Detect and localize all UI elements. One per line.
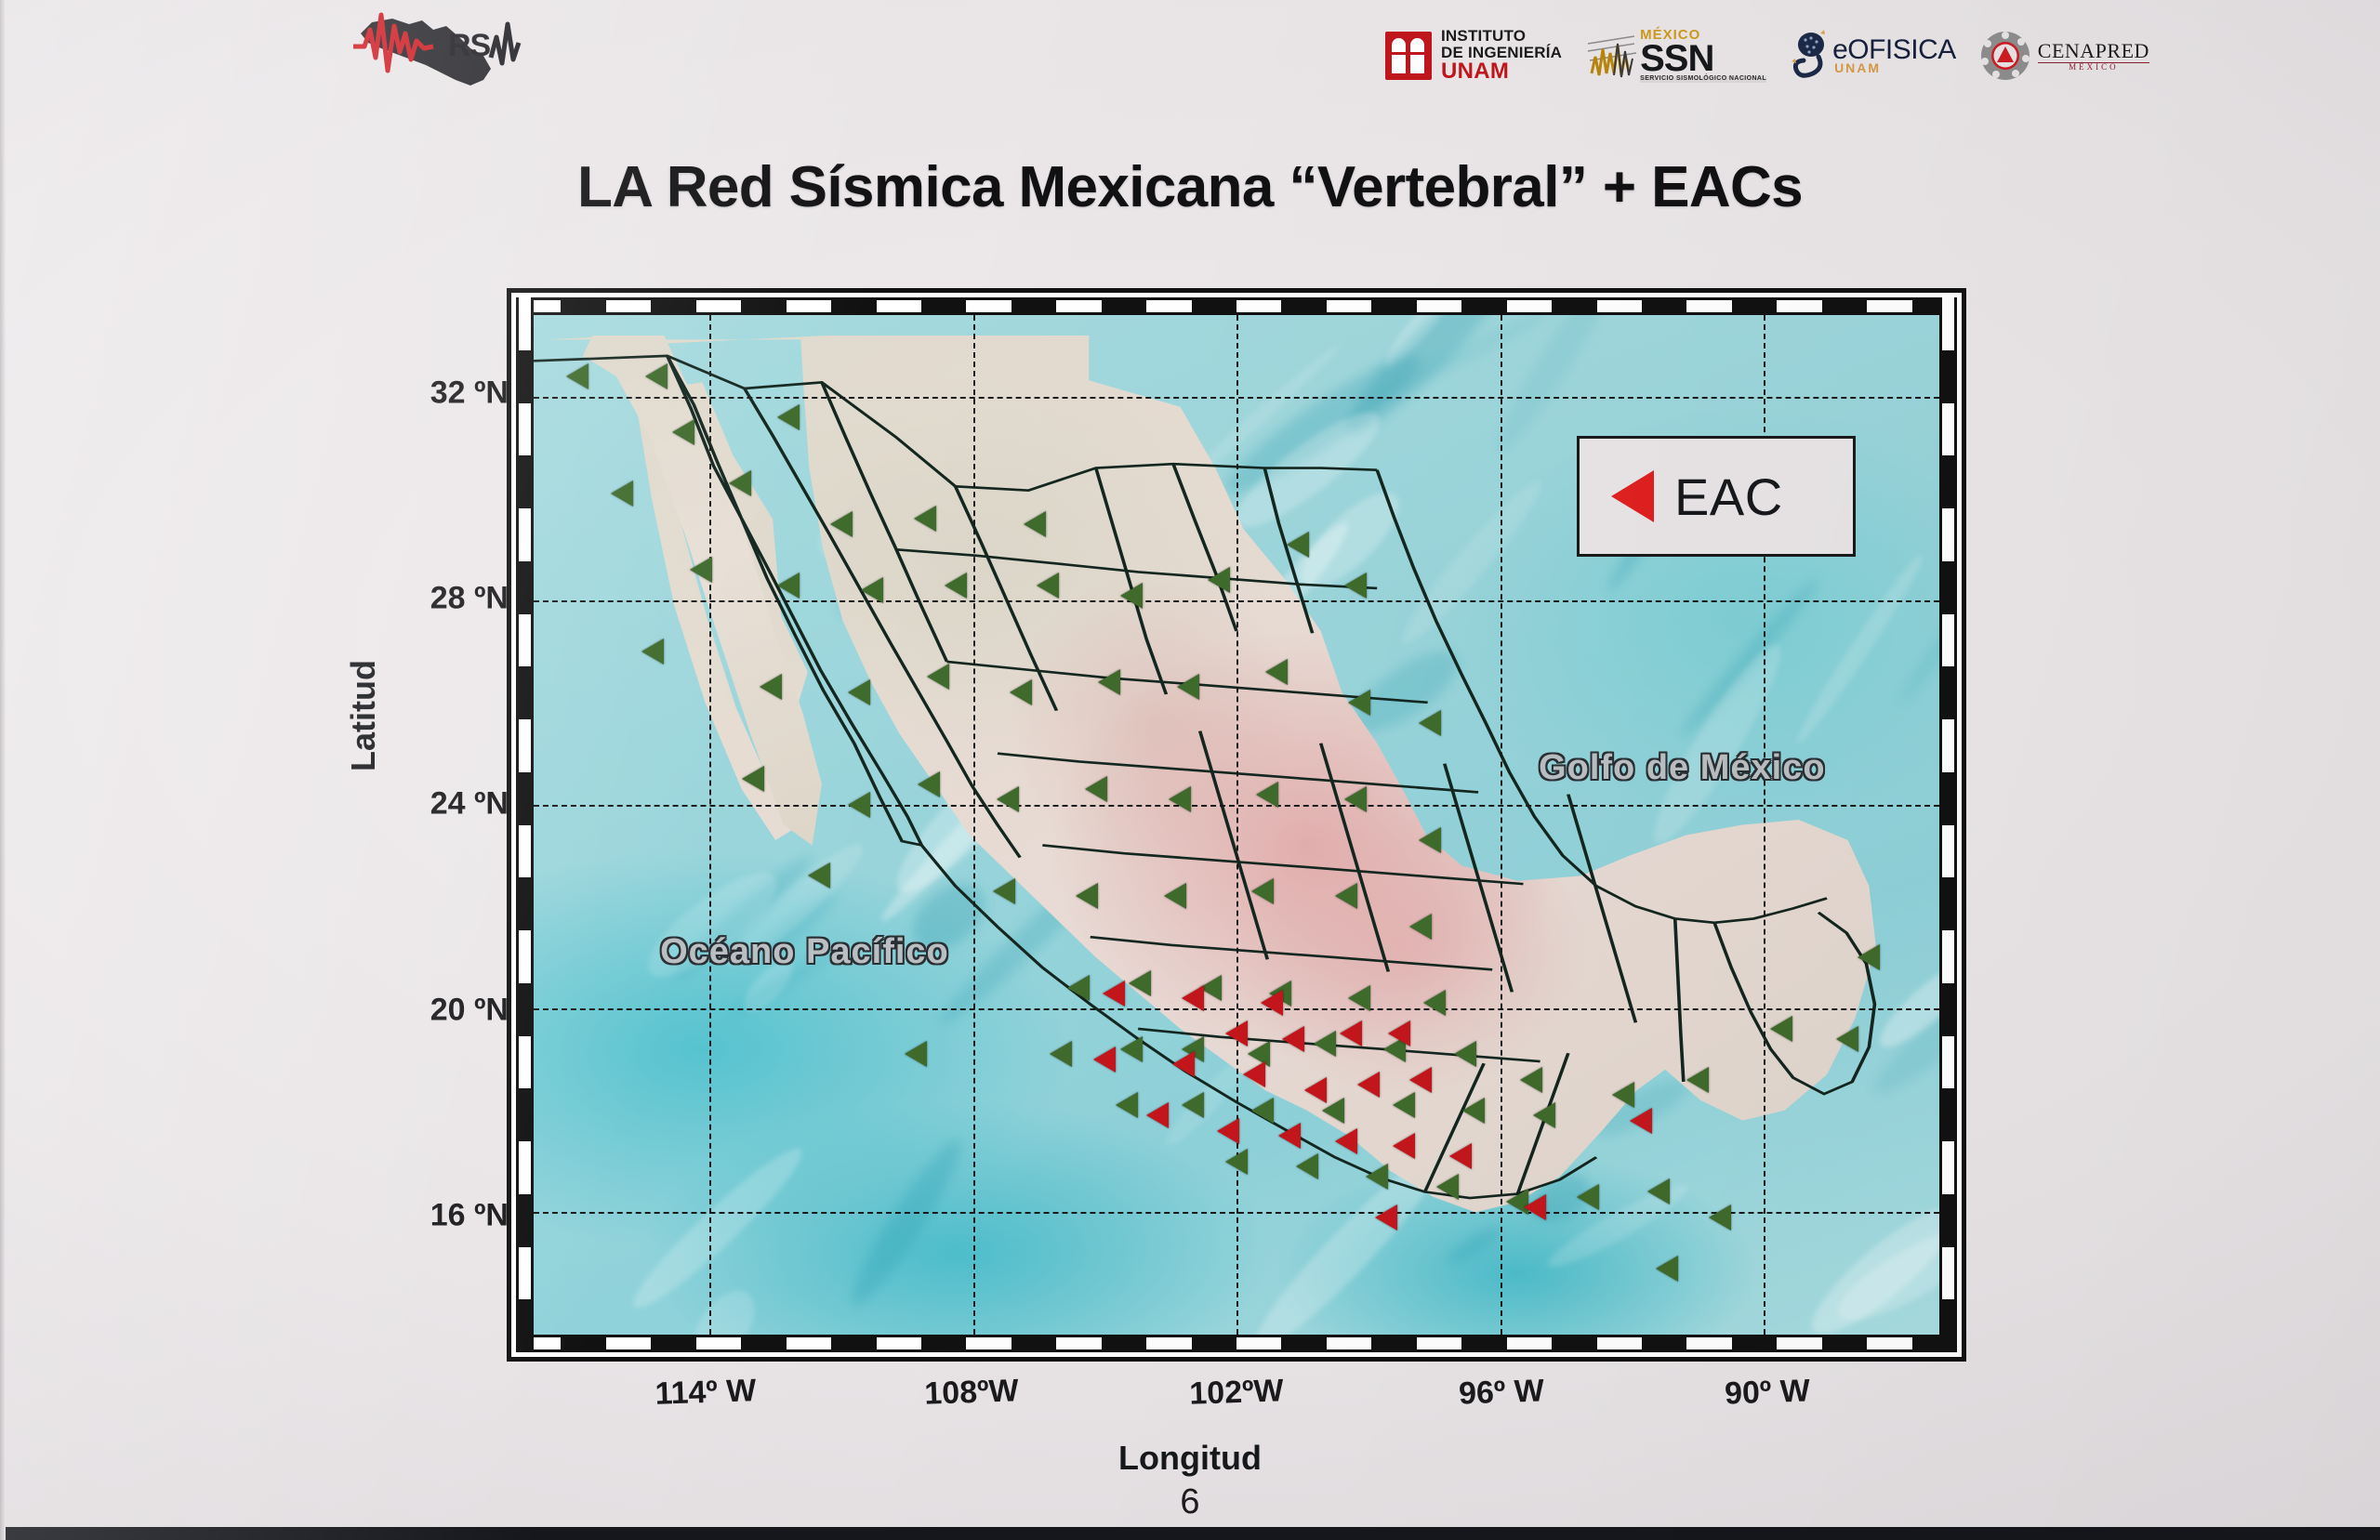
station-marker[interactable] xyxy=(1836,1026,1858,1052)
station-marker[interactable] xyxy=(1366,1164,1388,1190)
station-marker[interactable] xyxy=(945,573,967,599)
photo-bottom-edge xyxy=(0,1527,2380,1540)
station-marker-eac[interactable] xyxy=(1282,1026,1304,1052)
station-marker-eac[interactable] xyxy=(1340,1020,1362,1046)
frame-tick-segment xyxy=(1942,1247,1954,1300)
frame-tick-segment xyxy=(1942,930,1954,983)
station-marker[interactable] xyxy=(1177,674,1199,700)
rsm-logo: RS xyxy=(344,6,549,91)
station-marker[interactable] xyxy=(1164,883,1186,909)
station-marker[interactable] xyxy=(1436,1174,1459,1200)
frame-tick-segment xyxy=(966,300,1011,312)
svg-text:RS: RS xyxy=(448,28,491,63)
longitude-tick-label: 90º W xyxy=(1724,1373,1810,1412)
station-marker-eac[interactable] xyxy=(1103,981,1125,1007)
page-title: LA Red Sísmica Mexicana “Vertebral” + EA… xyxy=(0,154,2380,220)
geofisica-globe-icon xyxy=(1791,29,1830,83)
station-marker-eac[interactable] xyxy=(1304,1077,1327,1103)
frame-tick-segment xyxy=(519,1036,531,1089)
frame-tick-segment xyxy=(787,1337,831,1349)
partner-logos: INSTITUTO DE INGENIERÍA UNAM MÉXICO SSN xyxy=(1385,17,2149,95)
station-marker[interactable] xyxy=(777,404,800,430)
station-marker[interactable] xyxy=(905,1041,927,1067)
frame-tick-segment xyxy=(877,300,921,312)
station-marker[interactable] xyxy=(1120,1036,1143,1062)
grid-line-longitude xyxy=(1501,315,1502,1335)
station-marker-eac[interactable] xyxy=(1217,1118,1239,1144)
station-marker[interactable] xyxy=(808,862,830,888)
station-marker-eac[interactable] xyxy=(1388,1020,1410,1046)
geofisica-main: eOFISICA xyxy=(1832,37,1956,62)
legend-label-eac: EAC xyxy=(1674,467,1783,527)
frame-tick-segment xyxy=(1327,1337,1371,1349)
station-marker[interactable] xyxy=(1225,1149,1248,1175)
latitude-tick-label: 16 ºN xyxy=(430,1198,509,1234)
unam-square-icon xyxy=(1385,32,1432,80)
ii-line1: INSTITUTO xyxy=(1441,28,1562,45)
frame-tick-segment xyxy=(1236,1337,1281,1349)
frame-tick-segment xyxy=(1777,1337,1821,1349)
station-marker[interactable] xyxy=(918,771,940,797)
station-marker[interactable] xyxy=(1348,690,1370,716)
station-marker[interactable] xyxy=(927,664,949,690)
geofisica-unam-logo: eOFISICA UNAM xyxy=(1791,29,1956,83)
frame-tick-segment xyxy=(1942,1141,1954,1194)
frame-tick-segment xyxy=(1686,300,1731,312)
station-marker[interactable] xyxy=(566,363,588,389)
station-marker[interactable] xyxy=(611,480,633,507)
frame-tick-segment xyxy=(1597,300,1642,312)
station-marker[interactable] xyxy=(993,878,1015,904)
frame-tick-segment xyxy=(1507,1337,1552,1349)
station-marker[interactable] xyxy=(1116,1092,1138,1118)
frame-tick-segment xyxy=(877,1337,921,1349)
grid-line-longitude xyxy=(973,315,975,1335)
station-marker[interactable] xyxy=(1770,1016,1792,1042)
station-marker-eac[interactable] xyxy=(1225,1020,1248,1046)
frame-tick-segment xyxy=(1056,300,1101,312)
station-marker[interactable] xyxy=(760,674,782,700)
frame-tick-segment xyxy=(1942,508,1954,561)
longitude-tick-label: 114º W xyxy=(654,1373,757,1413)
legend-triangle-icon xyxy=(1611,470,1654,522)
frame-tick-segment xyxy=(606,300,651,312)
station-marker[interactable] xyxy=(1296,1153,1318,1179)
station-marker[interactable] xyxy=(777,573,800,599)
station-marker[interactable] xyxy=(1454,1041,1476,1067)
station-marker[interactable] xyxy=(1348,985,1370,1011)
station-marker[interactable] xyxy=(1520,1067,1542,1093)
station-marker[interactable] xyxy=(1577,1184,1599,1210)
frame-tick-segment xyxy=(787,300,831,312)
station-marker[interactable] xyxy=(848,792,870,818)
station-marker-eac[interactable] xyxy=(1172,1051,1195,1077)
ii-line3: UNAM xyxy=(1441,60,1562,84)
frame-tick-segment xyxy=(1867,300,1911,312)
ssn-logo: MÉXICO SSN SERVICIO SISMOLÓGICO NACIONAL xyxy=(1586,25,1766,86)
station-marker-eac[interactable] xyxy=(1335,1128,1357,1154)
frame-tick-segment xyxy=(1942,719,1954,772)
frame-tick-segment xyxy=(1146,1337,1191,1349)
cenapred-main: CENAPRED xyxy=(2038,41,2149,61)
station-marker[interactable] xyxy=(1393,1092,1415,1118)
station-marker[interactable] xyxy=(1858,944,1880,970)
slide-canvas: RS INSTITUTO DE INGENIERÍA UNAM xyxy=(0,0,2380,1540)
station-marker[interactable] xyxy=(1287,532,1309,558)
frame-tick-segment xyxy=(519,614,531,667)
frame-tick-segment xyxy=(519,403,531,456)
station-marker[interactable] xyxy=(1419,710,1441,736)
frame-tick-segment xyxy=(1597,1337,1642,1349)
station-marker[interactable] xyxy=(1182,1092,1204,1118)
station-marker-eac[interactable] xyxy=(1093,1046,1116,1073)
latitude-tick-label: 32 ºN xyxy=(430,375,509,411)
station-marker[interactable] xyxy=(1409,914,1432,940)
station-marker[interactable] xyxy=(1335,883,1357,909)
station-marker[interactable] xyxy=(1251,878,1274,904)
station-marker-eac[interactable] xyxy=(1182,985,1204,1011)
ssn-acronym: SSN xyxy=(1640,42,1766,76)
frame-tick-segment xyxy=(1942,1036,1954,1089)
station-marker[interactable] xyxy=(1686,1067,1709,1093)
frame-band-top xyxy=(516,297,1957,315)
station-marker[interactable] xyxy=(1067,975,1090,1001)
station-marker-eac[interactable] xyxy=(1243,1061,1265,1087)
station-marker[interactable] xyxy=(1709,1204,1731,1231)
frame-tick-segment xyxy=(1056,1337,1101,1349)
station-marker[interactable] xyxy=(1129,970,1151,996)
frame-tick-segment xyxy=(1236,300,1281,312)
frame-tick-segment xyxy=(519,719,531,772)
frame-tick-segment xyxy=(519,1247,531,1300)
station-marker[interactable] xyxy=(742,766,764,792)
station-marker[interactable] xyxy=(1265,659,1288,685)
label-oceano-pacifico: Océano Pacífico xyxy=(660,932,949,972)
grid-line-longitude xyxy=(1236,315,1238,1335)
station-marker[interactable] xyxy=(641,638,664,665)
frame-tick-segment xyxy=(1507,300,1552,312)
frame-tick-segment xyxy=(519,297,531,350)
frame-tick-segment xyxy=(1327,300,1371,312)
station-marker[interactable] xyxy=(645,363,668,389)
frame-tick-segment xyxy=(1777,300,1821,312)
station-marker[interactable] xyxy=(830,511,853,537)
station-marker-eac[interactable] xyxy=(1375,1204,1397,1231)
station-marker[interactable] xyxy=(1612,1082,1634,1108)
frame-tick-segment xyxy=(1942,297,1954,350)
station-marker-eac[interactable] xyxy=(1146,1102,1169,1128)
photo-left-edge xyxy=(0,0,6,1540)
frame-tick-segment xyxy=(519,930,531,983)
frame-tick-segment xyxy=(519,1141,531,1194)
frame-tick-segment xyxy=(1417,300,1461,312)
frame-band-left xyxy=(516,297,534,1352)
station-marker[interactable] xyxy=(1076,883,1098,909)
cenapred-logo: CENAPRED MÉXICO xyxy=(1980,31,2149,81)
frame-tick-segment xyxy=(696,300,741,312)
station-marker[interactable] xyxy=(1098,669,1120,695)
ssn-subtitle: SERVICIO SISMOLÓGICO NACIONAL xyxy=(1640,76,1766,82)
frame-tick-segment xyxy=(1867,1337,1911,1349)
station-marker[interactable] xyxy=(1251,1098,1274,1124)
cenapred-seal-icon xyxy=(1980,31,2030,81)
ssn-wave-icon xyxy=(1586,33,1640,79)
station-marker[interactable] xyxy=(1010,679,1032,705)
axis-title-longitud: Longitud xyxy=(0,1439,2380,1478)
frame-tick-segment xyxy=(696,1337,741,1349)
frame-tick-segment xyxy=(1942,825,1954,878)
station-marker[interactable] xyxy=(848,679,870,705)
frame-tick-segment xyxy=(519,508,531,561)
station-marker[interactable] xyxy=(1533,1102,1555,1128)
station-marker-eac[interactable] xyxy=(1449,1143,1472,1169)
station-marker[interactable] xyxy=(1344,786,1367,812)
axis-title-latitud: Latitud xyxy=(344,660,383,771)
latitude-tick-label: 28 ºN xyxy=(430,580,509,616)
latitude-tick-label: 24 ºN xyxy=(430,786,509,823)
frame-tick-segment xyxy=(1417,1337,1461,1349)
station-marker[interactable] xyxy=(861,577,883,603)
station-marker[interactable] xyxy=(1208,567,1230,593)
instituto-ingenieria-unam-logo: INSTITUTO DE INGENIERÍA UNAM xyxy=(1385,28,1562,84)
station-marker-eac[interactable] xyxy=(1261,990,1283,1016)
map-plot-area: Océano Pacífico Golfo de México EAC xyxy=(534,315,1939,1335)
page-number: 6 xyxy=(0,1482,2380,1522)
frame-tick-segment xyxy=(606,1337,651,1349)
station-marker[interactable] xyxy=(1256,782,1278,808)
frame-tick-segment xyxy=(1146,300,1191,312)
station-marker[interactable] xyxy=(1647,1178,1670,1204)
frame-tick-segment xyxy=(1942,614,1954,667)
station-marker-eac[interactable] xyxy=(1524,1194,1546,1220)
station-marker[interactable] xyxy=(1344,573,1367,599)
station-marker[interactable] xyxy=(1037,573,1059,599)
longitude-tick-label: 102ºW xyxy=(1189,1373,1285,1413)
frame-tick-segment xyxy=(1686,1337,1731,1349)
frame-band-right xyxy=(1939,297,1957,1352)
station-marker[interactable] xyxy=(1423,990,1446,1016)
station-marker-eac[interactable] xyxy=(1630,1108,1652,1134)
station-marker[interactable] xyxy=(997,786,1019,812)
station-marker[interactable] xyxy=(1024,511,1046,537)
station-marker[interactable] xyxy=(1085,776,1107,802)
station-marker[interactable] xyxy=(1050,1041,1072,1067)
station-marker[interactable] xyxy=(672,419,694,445)
station-marker[interactable] xyxy=(1656,1256,1678,1282)
frame-tick-segment xyxy=(519,825,531,878)
map-legend: EAC xyxy=(1577,436,1856,557)
station-marker[interactable] xyxy=(1169,786,1191,812)
station-marker-eac[interactable] xyxy=(1357,1072,1380,1098)
frame-tick-segment xyxy=(966,1337,1011,1349)
station-marker[interactable] xyxy=(690,557,712,583)
longitude-tick-label: 108ºW xyxy=(923,1373,1019,1413)
station-marker[interactable] xyxy=(1120,583,1143,609)
latitude-tick-label: 20 ºN xyxy=(430,992,509,1028)
frame-tick-segment xyxy=(1942,403,1954,456)
cenapred-sub: MÉXICO xyxy=(2038,62,2149,72)
station-marker[interactable] xyxy=(729,470,751,496)
station-marker-eac[interactable] xyxy=(1278,1123,1301,1149)
station-marker[interactable] xyxy=(1462,1098,1485,1124)
station-marker-eac[interactable] xyxy=(1409,1067,1432,1093)
frame-band-bottom xyxy=(516,1335,1957,1352)
station-marker[interactable] xyxy=(914,506,936,532)
grid-line-longitude xyxy=(709,315,711,1335)
station-marker-eac[interactable] xyxy=(1393,1133,1415,1159)
station-marker[interactable] xyxy=(1419,827,1441,853)
longitude-tick-label: 96º W xyxy=(1459,1373,1545,1412)
map-frame: Océano Pacífico Golfo de México EAC xyxy=(507,288,1966,1362)
station-marker[interactable] xyxy=(1314,1031,1336,1057)
label-golfo-de-mexico: Golfo de México xyxy=(1539,748,1825,788)
map-figure: Océano Pacífico Golfo de México EAC 32 º… xyxy=(507,288,1966,1362)
